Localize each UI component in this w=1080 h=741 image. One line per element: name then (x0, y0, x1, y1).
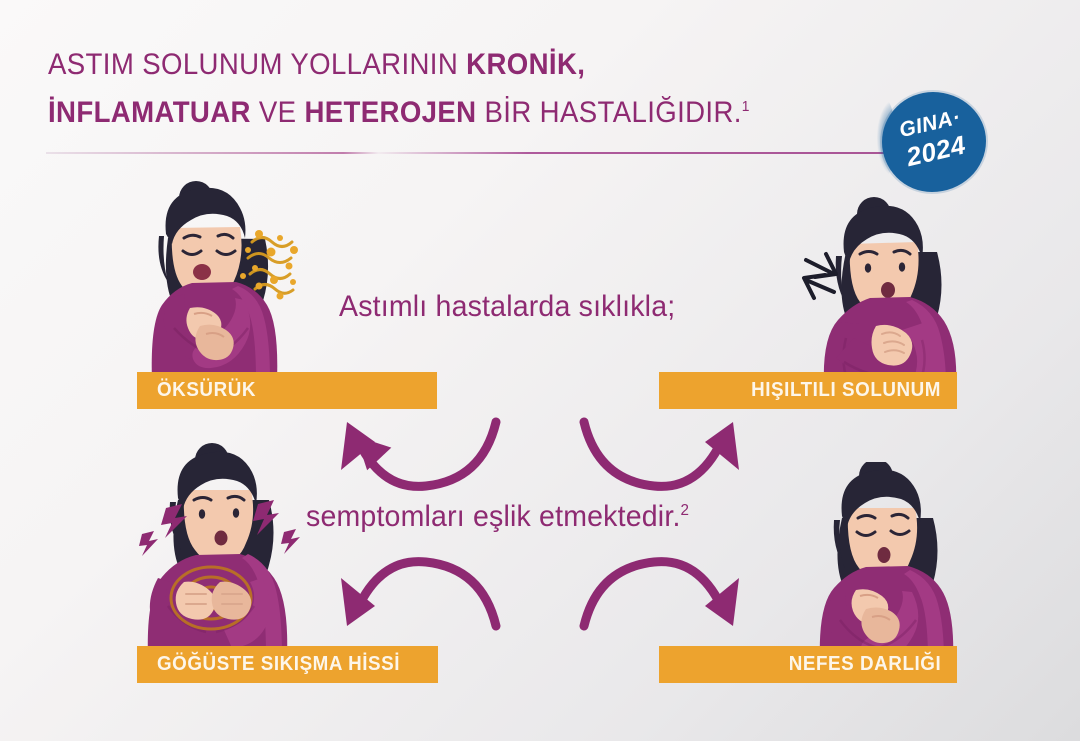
label-bar-chest-tightness[interactable]: GÖĞÜSTE SIKIŞMA HİSSİ (137, 646, 438, 683)
curved-arrow-down-left (332, 548, 502, 638)
label-text-cough: ÖKSÜRÜK (157, 379, 256, 402)
label-bar-wheeze[interactable]: HIŞILTILI SOLUNUM (659, 372, 957, 409)
curved-arrow-up-left-icon (332, 414, 502, 499)
label-text-chest-tightness: GÖĞÜSTE SIKIŞMA HİSSİ (157, 653, 400, 676)
woman-coughing-icon (128, 176, 303, 381)
curved-arrow-down-right (578, 548, 748, 638)
center-sentence-top: Astımlı hastalarda sıklıkla; (339, 290, 675, 324)
illustration-woman-chest-tightness (128, 442, 313, 657)
illustration-woman-coughing (128, 176, 303, 381)
title-line1-plain: ASTIM SOLUNUM YOLLARININ (48, 48, 466, 81)
curved-arrow-down-left-icon (332, 548, 502, 633)
center-sentence-bottom-text: semptomları eşlik etmektedir. (306, 500, 681, 533)
title-line2-bold2: HETEROJEN (304, 96, 476, 129)
curved-arrow-up-right (578, 414, 748, 504)
curved-arrow-up-right-icon (578, 414, 748, 499)
infographic-canvas: ASTIM SOLUNUM YOLLARININ KRONİK, İNFLAMA… (0, 0, 1080, 741)
curved-arrow-down-right-icon (578, 548, 748, 633)
title-line2-bold1: İNFLAMATUAR (48, 96, 251, 129)
woman-shortness-of-breath-icon (796, 462, 971, 662)
title-line1-bold: KRONİK, (466, 48, 585, 81)
illustration-woman-wheezing (788, 196, 968, 386)
center-footnote-marker: 2 (681, 502, 690, 519)
curved-arrow-up-left (332, 414, 502, 504)
label-bar-dyspnea[interactable]: NEFES DARLIĞI (659, 646, 957, 683)
title-divider (46, 152, 921, 154)
title-line2-post: BİR HASTALIĞIDIR. (476, 96, 741, 129)
center-sentence-bottom: semptomları eşlik etmektedir.2 (306, 500, 689, 534)
label-text-wheeze: HIŞILTILI SOLUNUM (751, 379, 941, 402)
woman-wheezing-icon (788, 196, 968, 386)
title-footnote-marker: 1 (742, 98, 750, 115)
woman-chest-tightness-icon (128, 442, 313, 657)
gina-2024-badge: GINA· 2024 (882, 92, 986, 192)
label-text-dyspnea: NEFES DARLIĞI (788, 653, 941, 676)
illustration-woman-shortness-of-breath (796, 462, 971, 662)
label-bar-cough[interactable]: ÖKSÜRÜK (137, 372, 437, 409)
page-title: ASTIM SOLUNUM YOLLARININ KRONİK, İNFLAMA… (48, 44, 821, 134)
title-line2-mid: VE (251, 96, 305, 129)
badge-text-group: GINA· 2024 (872, 82, 996, 203)
